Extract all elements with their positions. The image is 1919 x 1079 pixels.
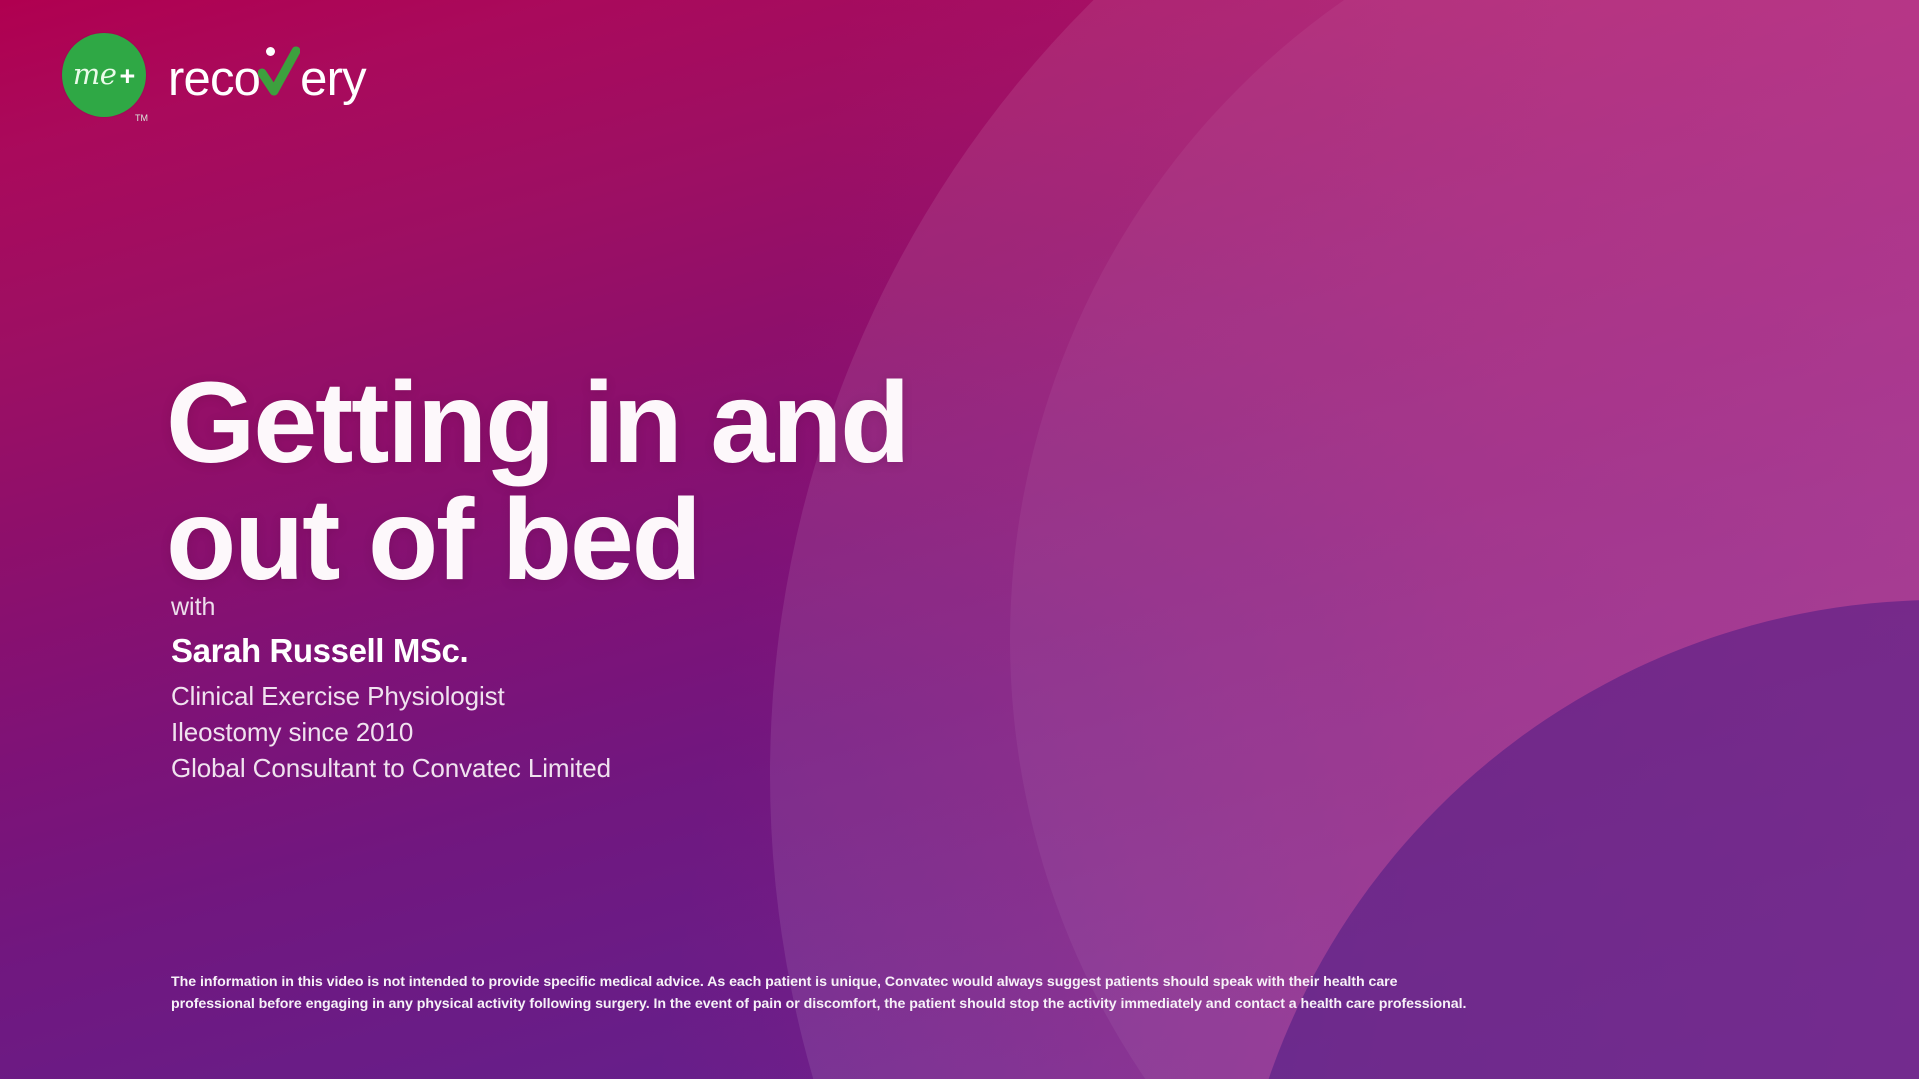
credential-line: Clinical Exercise Physiologist (171, 679, 611, 715)
disclaimer-line-1: The information in this video is not int… (171, 972, 1591, 994)
medical-disclaimer: The information in this video is not int… (171, 972, 1591, 1015)
trademark-symbol: TM (135, 113, 148, 123)
presenter-block: with Sarah Russell MSc. Clinical Exercis… (171, 593, 611, 787)
title-slide: me + TM reco ery Getting in and out of b… (0, 0, 1919, 1079)
logo-mark-text: me (73, 57, 117, 91)
title-line-2: out of bed (166, 482, 908, 599)
decorative-circle-inner (1010, 0, 1919, 1079)
presenter-name: Sarah Russell MSc. (171, 632, 611, 670)
me-plus-logo-mark: me + TM (62, 33, 146, 117)
disclaimer-line-2: professional before engaging in any phys… (171, 994, 1591, 1016)
with-label: with (171, 593, 611, 622)
page-title: Getting in and out of bed (166, 365, 908, 600)
green-check-icon (260, 43, 300, 95)
recovery-wordmark: reco ery (168, 43, 366, 107)
logo-plus-icon: + (119, 61, 135, 92)
decorative-circle-large (770, 0, 1919, 1079)
presenter-credentials: Clinical Exercise Physiologist Ileostomy… (171, 679, 611, 787)
credential-line: Ileostomy since 2010 (171, 715, 611, 751)
credential-line: Global Consultant to Convatec Limited (171, 751, 611, 787)
wordmark-part-2: ery (300, 51, 366, 107)
title-line-1: Getting in and (166, 365, 908, 482)
wordmark-part-1: reco (168, 51, 260, 107)
brand-logo: me + TM reco ery (62, 33, 366, 117)
